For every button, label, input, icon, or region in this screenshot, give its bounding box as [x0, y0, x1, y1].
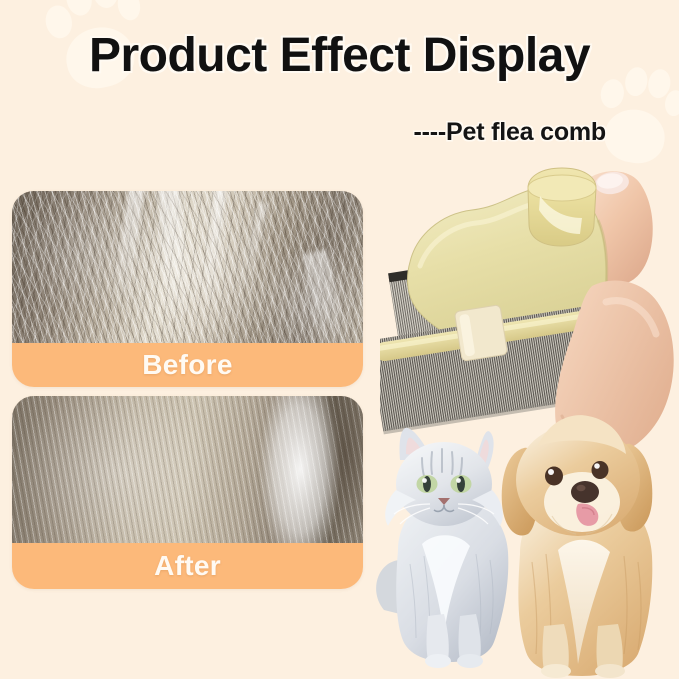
before-photo: [12, 191, 363, 343]
cat-illustration: [376, 428, 508, 668]
after-label: After: [154, 550, 221, 582]
page-title: Product Effect Display: [0, 28, 679, 83]
matted-fur-texture: [12, 191, 363, 343]
dog-head: [502, 415, 653, 536]
comb-slider-block: [454, 305, 507, 362]
before-card: Before: [12, 191, 363, 387]
after-label-band: After: [12, 543, 363, 589]
product-effect-poster: Product Effect Display ----Pet flea comb…: [0, 0, 679, 679]
page-subtitle: ----Pet flea comb: [414, 118, 606, 147]
after-photo: [12, 396, 363, 543]
pets-photo-cat-and-dog: [372, 404, 679, 679]
before-label: Before: [142, 349, 233, 381]
after-card: After: [12, 396, 363, 589]
smooth-fur-texture: [12, 396, 363, 543]
comb-knob-button: [528, 168, 596, 246]
dog-illustration: [502, 415, 653, 678]
before-label-band: Before: [12, 343, 363, 387]
